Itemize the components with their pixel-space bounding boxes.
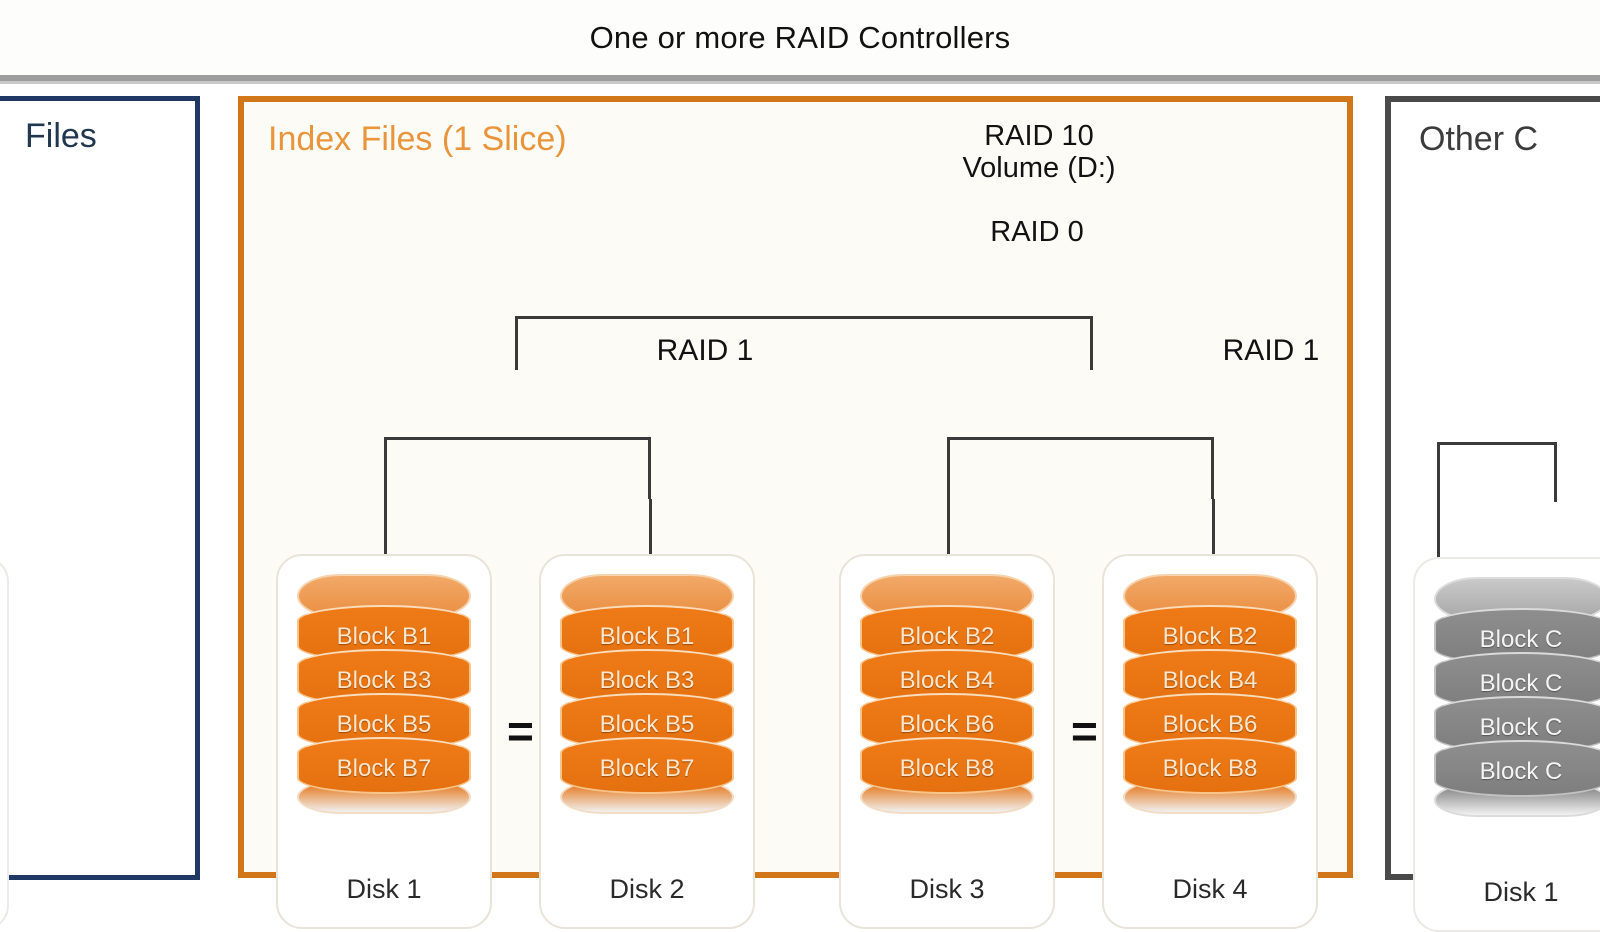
header-divider-shadow (0, 81, 1600, 84)
block-band: Block B7 (297, 737, 471, 794)
block-label: Block B2 (900, 623, 995, 651)
panel-center-title: Index Files (1 Slice) (268, 120, 567, 159)
panel-other-content-right: Other C V Block C Block C Block C Block … (1385, 96, 1600, 880)
block-label: Block C (1480, 626, 1563, 654)
bracket-stem-disk2 (649, 499, 652, 554)
disk-unit-disk1: Block B1 Block B3 Block B5 Block B7 Disk… (276, 554, 492, 929)
bracket-right-stem (1437, 502, 1440, 562)
block-label: Block B7 (600, 755, 695, 783)
panel-center-volume-label: RAID 10 Volume (D:) (934, 120, 1144, 185)
panel-other-files-left: Files :) Block A1 Block A2 Block A3 Bloc… (0, 96, 200, 880)
bracket-right-panel (1437, 442, 1557, 502)
disk-unit-disk3: Block B2 Block B4 Block B6 Block B8 Disk… (839, 554, 1055, 929)
block-label: Block B4 (1163, 667, 1258, 695)
panel-index-files-center: Index Files (1 Slice) RAID 10 Volume (D:… (238, 96, 1353, 878)
block-label: Block B5 (337, 711, 432, 739)
block-label: Block B5 (600, 711, 695, 739)
cylinder-disk1: Block B1 Block B3 Block B5 Block B7 (297, 574, 471, 814)
block-label: Block B6 (1163, 711, 1258, 739)
panel-right-title: Other C (1419, 120, 1538, 159)
panel-right-volume-label: V (1577, 120, 1600, 152)
volume-line-2: Volume (D:) (934, 152, 1144, 184)
block-label: Block B2 (1163, 623, 1258, 651)
disk-name-label: Disk 1 (1415, 877, 1600, 908)
disk-unit-right-disk1: Block C Block C Block C Block C Disk 1 (1413, 557, 1600, 932)
bracket-raid0 (515, 316, 1093, 370)
raid1-right-label: RAID 1 (1176, 334, 1366, 368)
block-band: Block C (1434, 740, 1600, 797)
block-label: Block B6 (900, 711, 995, 739)
diagram-canvas: One or more RAID Controllers Files :) Bl… (0, 0, 1600, 900)
cylinder-disk2: Block B1 Block B3 Block B5 Block B7 (560, 574, 734, 814)
disk-name-label: Disk 4 (1104, 874, 1316, 905)
raid1-left-label: RAID 1 (610, 334, 800, 368)
block-band: Block B8 (1123, 737, 1297, 794)
raid-controllers-band: One or more RAID Controllers (0, 0, 1600, 75)
cylinder-disk3: Block B2 Block B4 Block B6 Block B8 (860, 574, 1034, 814)
block-label: Block C (1480, 670, 1563, 698)
volume-line-1: RAID 10 (934, 120, 1144, 152)
mirror-equals-right: = (1071, 708, 1098, 754)
bracket-stem-disk3 (947, 499, 950, 554)
bracket-raid1-right (947, 437, 1214, 499)
block-label: Block B4 (900, 667, 995, 695)
block-label: Block C (1480, 758, 1563, 786)
block-label: Block B1 (337, 623, 432, 651)
panel-left-title: Files (25, 117, 97, 156)
block-label: Block C (1480, 714, 1563, 742)
block-label: Block B8 (1163, 755, 1258, 783)
cylinder-right-disk1: Block C Block C Block C Block C (1434, 577, 1600, 817)
mirror-equals-left: = (507, 708, 534, 754)
disk-name-label: Disk 1 (278, 874, 490, 905)
block-label: Block B3 (337, 667, 432, 695)
block-label: Block B7 (337, 755, 432, 783)
disk-unit-disk2: Block B1 Block B3 Block B5 Block B7 Disk… (539, 554, 755, 929)
disk-name-label: Disk 2 (0, 876, 7, 907)
block-label: Block B1 (600, 623, 695, 651)
bracket-stem-disk1 (384, 499, 387, 554)
raid0-label: RAID 0 (932, 216, 1142, 249)
block-label: Block B8 (900, 755, 995, 783)
disk-name-label: Disk 3 (841, 874, 1053, 905)
disk-unit-left-disk2: Block A1 Block A2 Block A3 Block A4 Disk… (0, 556, 9, 931)
block-label: Block B3 (600, 667, 695, 695)
block-band: Block B8 (860, 737, 1034, 794)
cylinder-disk4: Block B2 Block B4 Block B6 Block B8 (1123, 574, 1297, 814)
raid-controllers-title: One or more RAID Controllers (590, 20, 1011, 56)
disk-name-label: Disk 2 (541, 874, 753, 905)
disk-unit-disk4: Block B2 Block B4 Block B6 Block B8 Disk… (1102, 554, 1318, 929)
bracket-raid1-left (384, 437, 651, 499)
block-band: Block B7 (560, 737, 734, 794)
bracket-stem-disk4 (1212, 499, 1215, 554)
